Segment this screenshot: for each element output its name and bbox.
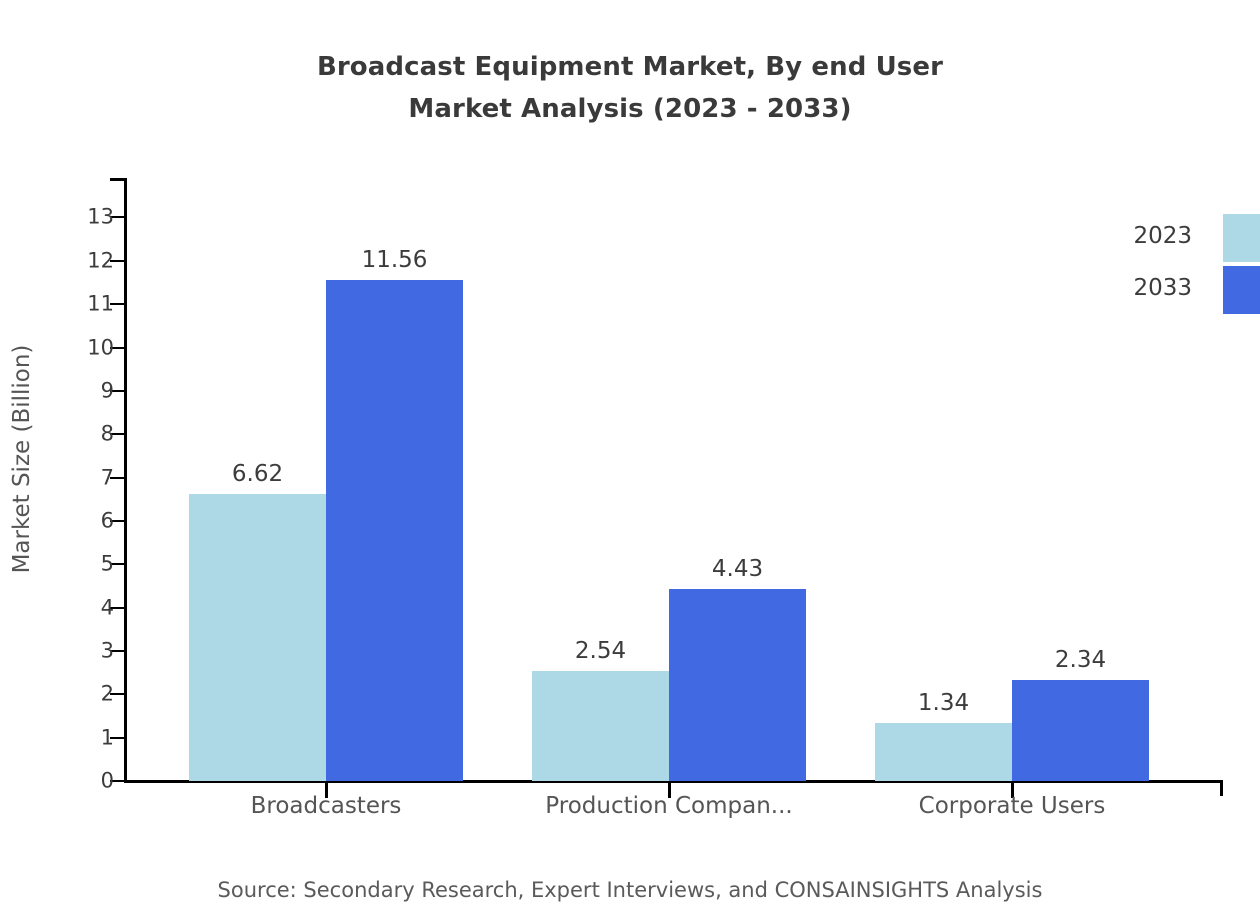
legend-item-2023[interactable]: 2023 bbox=[1110, 212, 1260, 264]
x-axis-category-label: Production Compan... bbox=[545, 793, 792, 819]
legend-label: 2023 bbox=[1133, 223, 1192, 249]
bar-value-label: 4.43 bbox=[712, 556, 763, 582]
x-axis-category-label: Corporate Users bbox=[919, 793, 1106, 819]
bar-value-label: 11.56 bbox=[362, 247, 428, 273]
bars-layer: 6.6211.562.544.431.342.34 bbox=[0, 0, 1260, 781]
legend-item-2033[interactable]: 2033 bbox=[1110, 264, 1260, 316]
legend-swatch bbox=[1223, 266, 1260, 314]
bar-2023-1[interactable] bbox=[189, 494, 326, 781]
bar-value-label: 2.34 bbox=[1055, 647, 1106, 673]
bar-value-label: 1.34 bbox=[918, 690, 969, 716]
chart-legend: 20232033 bbox=[1110, 212, 1260, 316]
bar-2023-3[interactable] bbox=[875, 723, 1012, 781]
bar-2033-2[interactable] bbox=[669, 589, 806, 781]
x-axis-category-label: Broadcasters bbox=[251, 793, 402, 819]
bar-value-label: 6.62 bbox=[232, 461, 283, 487]
source-note: Source: Secondary Research, Expert Inter… bbox=[0, 878, 1260, 902]
bar-2033-3[interactable] bbox=[1012, 680, 1149, 781]
legend-swatch bbox=[1223, 214, 1260, 262]
bar-value-label: 2.54 bbox=[575, 638, 626, 664]
x-axis-end-cap bbox=[1220, 780, 1223, 796]
bar-2033-1[interactable] bbox=[326, 280, 463, 781]
legend-label: 2033 bbox=[1133, 275, 1192, 301]
bar-2023-2[interactable] bbox=[532, 671, 669, 781]
